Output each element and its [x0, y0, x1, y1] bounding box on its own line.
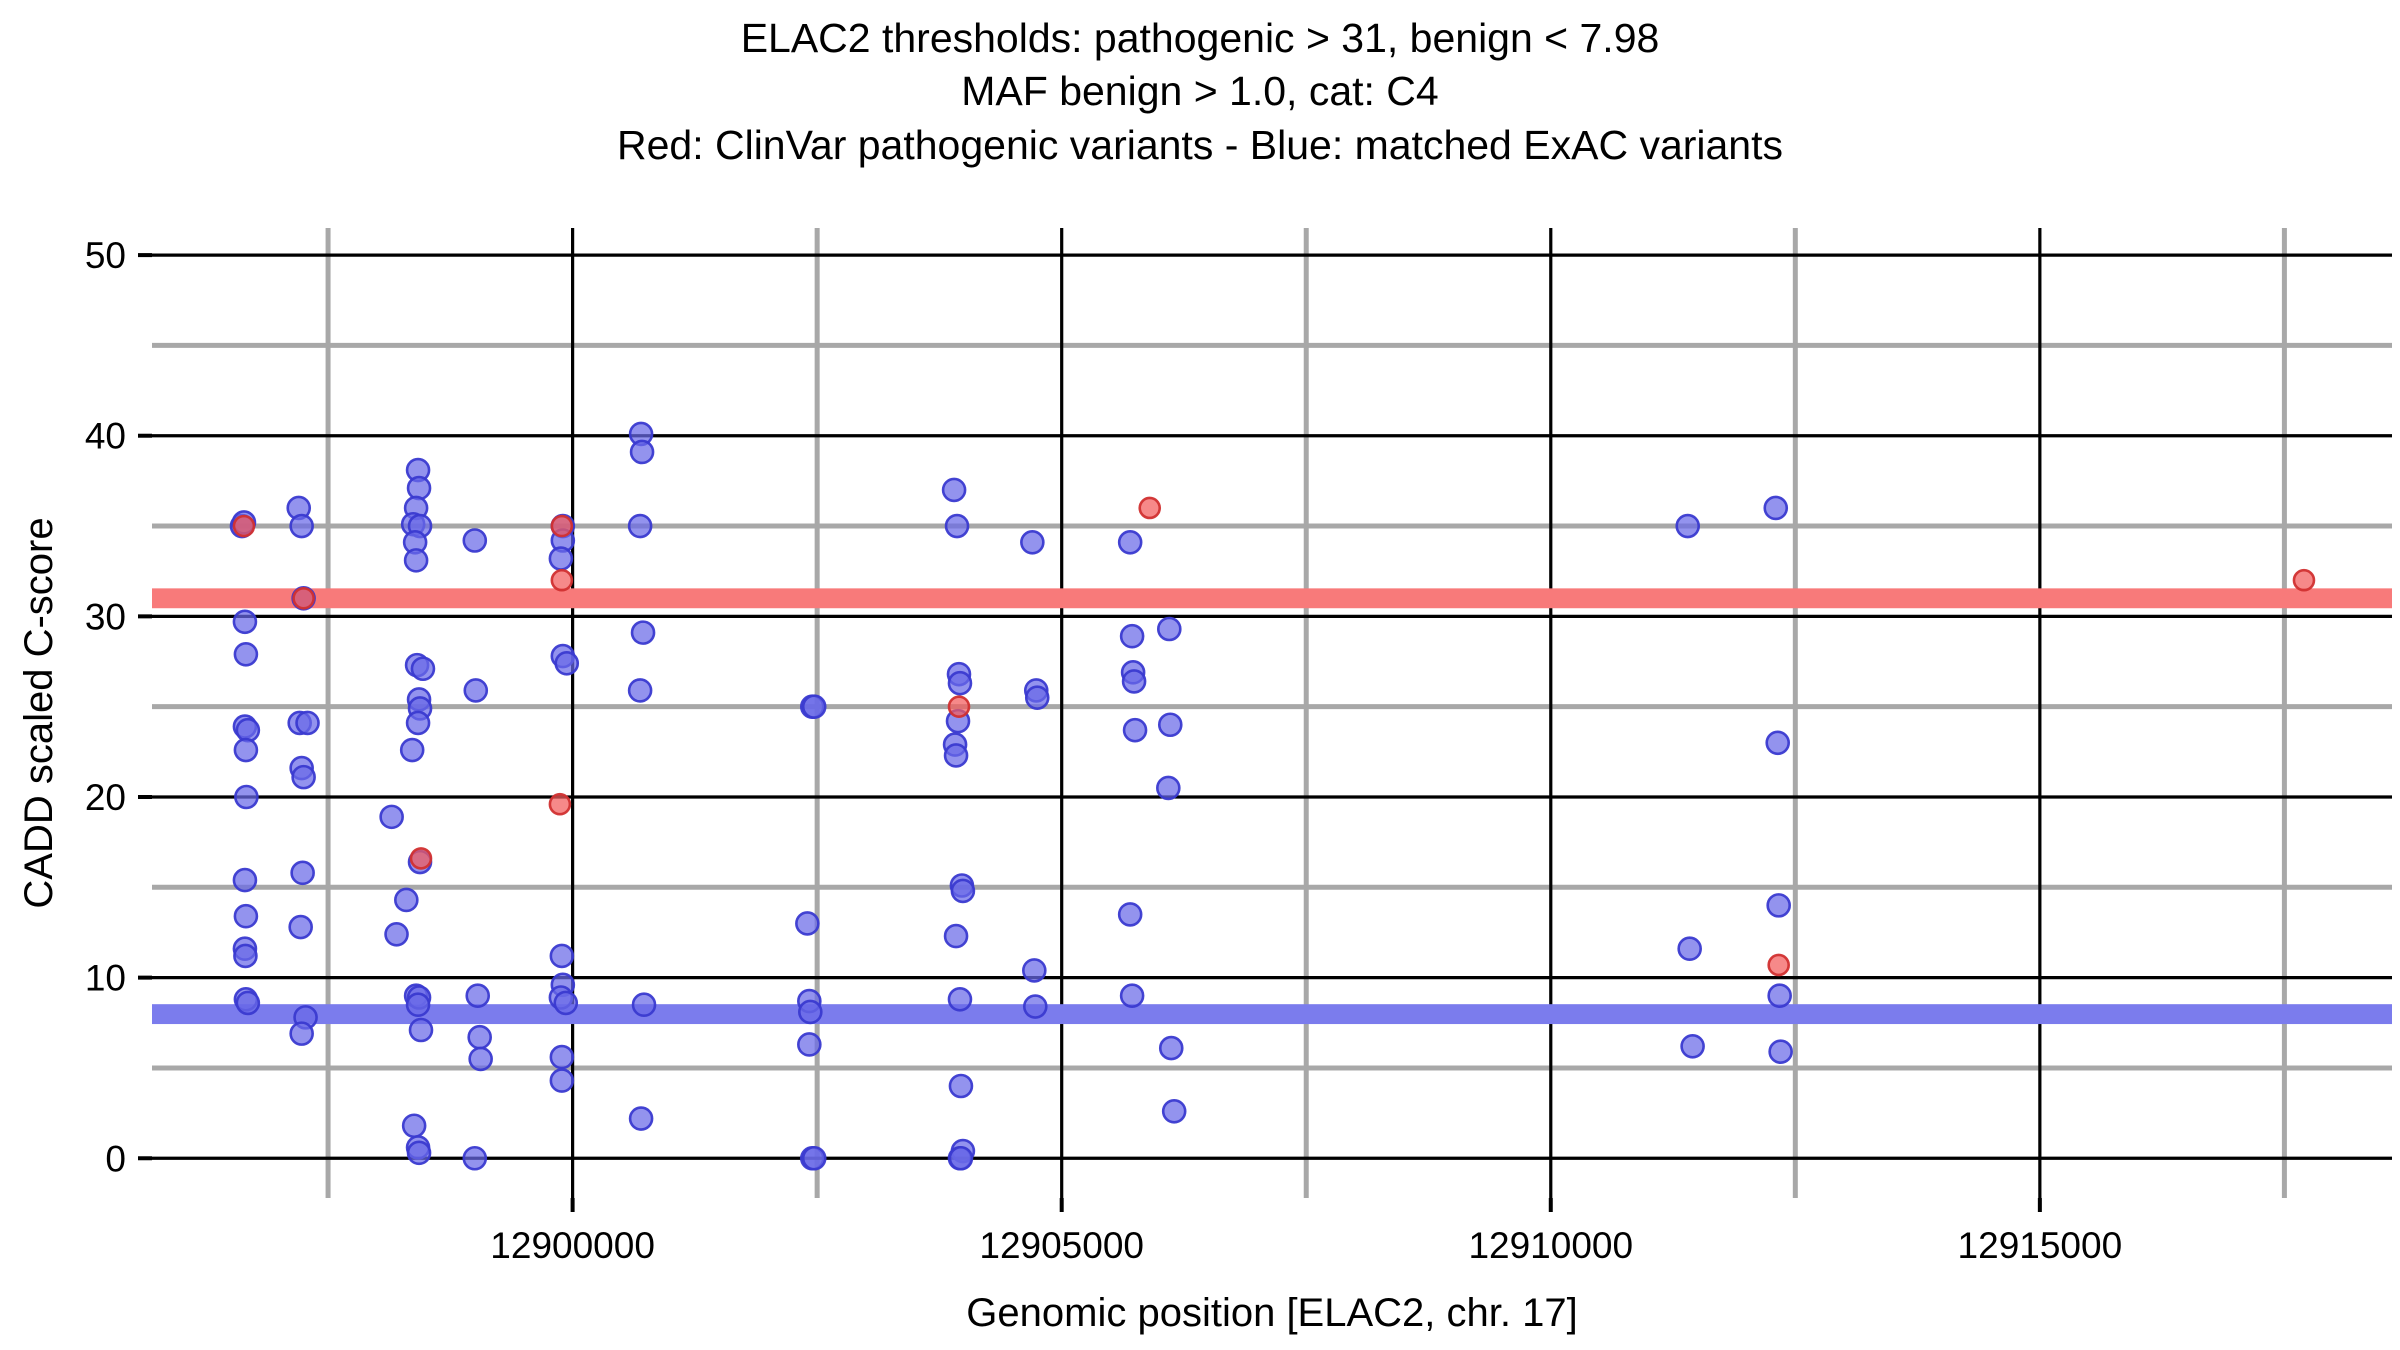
data-point[interactable]	[235, 905, 257, 927]
data-point[interactable]	[1123, 670, 1145, 692]
data-point[interactable]	[629, 679, 651, 701]
data-point[interactable]	[1119, 531, 1141, 553]
data-point[interactable]	[1767, 732, 1789, 754]
data-point[interactable]	[2294, 570, 2314, 590]
data-point[interactable]	[1157, 777, 1179, 799]
data-point[interactable]	[1023, 959, 1045, 981]
data-point[interactable]	[950, 1075, 972, 1097]
data-point[interactable]	[945, 744, 967, 766]
data-point[interactable]	[1026, 687, 1048, 709]
data-point[interactable]	[1768, 894, 1790, 916]
data-point[interactable]	[293, 766, 315, 788]
data-point[interactable]	[405, 549, 427, 571]
chart-figure: ELAC2 thresholds: pathogenic > 31, benig…	[0, 0, 2400, 1350]
data-point[interactable]	[945, 925, 967, 947]
data-point[interactable]	[551, 1046, 573, 1068]
data-point[interactable]	[411, 848, 431, 868]
data-point[interactable]	[1021, 531, 1043, 553]
data-point[interactable]	[946, 515, 968, 537]
data-point[interactable]	[290, 916, 312, 938]
data-point[interactable]	[803, 1147, 825, 1169]
data-point[interactable]	[297, 712, 319, 734]
data-point[interactable]	[551, 945, 573, 967]
data-point[interactable]	[552, 570, 572, 590]
data-point[interactable]	[949, 697, 969, 717]
y-axis-ticks: 01020304050	[85, 235, 152, 1179]
data-point[interactable]	[235, 643, 257, 665]
data-point[interactable]	[1765, 497, 1787, 519]
data-point[interactable]	[1770, 1041, 1792, 1063]
data-point[interactable]	[555, 992, 577, 1014]
data-point[interactable]	[294, 588, 314, 608]
data-point[interactable]	[469, 1026, 491, 1048]
data-point[interactable]	[1160, 1037, 1182, 1059]
data-point[interactable]	[630, 1108, 652, 1130]
y-tick-label: 0	[105, 1138, 126, 1179]
data-point[interactable]	[796, 912, 818, 934]
y-tick-label: 10	[85, 958, 126, 999]
y-tick-label: 30	[85, 596, 126, 637]
scatter-plot: 01020304050 1290000012905000129100001291…	[0, 0, 2400, 1350]
data-point[interactable]	[950, 1147, 972, 1169]
data-point[interactable]	[556, 652, 578, 674]
y-tick-label: 20	[85, 777, 126, 818]
data-point[interactable]	[632, 622, 654, 644]
data-point[interactable]	[949, 672, 971, 694]
data-point[interactable]	[292, 862, 314, 884]
y-minor-gridlines	[152, 345, 2392, 1068]
x-tick-label: 12905000	[979, 1225, 1144, 1266]
data-point[interactable]	[464, 529, 486, 551]
y-axis-title: CADD scaled C-score	[17, 517, 61, 908]
data-point[interactable]	[401, 739, 423, 761]
data-point[interactable]	[803, 696, 825, 718]
data-point[interactable]	[1159, 714, 1181, 736]
data-point[interactable]	[952, 880, 974, 902]
data-point[interactable]	[1121, 985, 1143, 1007]
x-tick-label: 12900000	[490, 1225, 655, 1266]
data-point[interactable]	[1682, 1035, 1704, 1057]
y-tick-label: 40	[85, 416, 126, 457]
data-point[interactable]	[235, 786, 257, 808]
data-point[interactable]	[237, 992, 259, 1014]
data-point[interactable]	[234, 869, 256, 891]
data-point[interactable]	[1769, 955, 1789, 975]
x-axis-title: Genomic position [ELAC2, chr. 17]	[966, 1291, 1577, 1335]
x-minor-gridlines	[328, 228, 2284, 1198]
threshold-bands	[152, 588, 2392, 1024]
data-point[interactable]	[408, 1142, 430, 1164]
y-tick-label: 50	[85, 235, 126, 276]
benign-threshold	[152, 1004, 2392, 1024]
data-point[interactable]	[1163, 1100, 1185, 1122]
data-point[interactable]	[799, 1001, 821, 1023]
data-point[interactable]	[237, 719, 259, 741]
data-point[interactable]	[234, 611, 256, 633]
data-point[interactable]	[1024, 996, 1046, 1018]
data-point[interactable]	[1769, 985, 1791, 1007]
data-point[interactable]	[550, 794, 570, 814]
data-point[interactable]	[291, 1023, 313, 1045]
x-tick-label: 12910000	[1468, 1225, 1633, 1266]
data-point[interactable]	[395, 889, 417, 911]
data-point[interactable]	[412, 658, 434, 680]
data-point[interactable]	[552, 516, 572, 536]
data-point[interactable]	[943, 479, 965, 501]
data-point[interactable]	[470, 1048, 492, 1070]
data-point[interactable]	[550, 548, 572, 570]
data-point[interactable]	[407, 994, 429, 1016]
x-axis-ticks: 12900000129050001291000012915000	[490, 1198, 2122, 1266]
pathogenic-threshold	[152, 588, 2392, 608]
data-point[interactable]	[291, 515, 313, 537]
clinvar-pathogenic-points[interactable]	[234, 498, 2314, 975]
data-point[interactable]	[1158, 618, 1180, 640]
x-tick-label: 12915000	[1958, 1225, 2123, 1266]
data-point[interactable]	[408, 477, 430, 499]
data-point[interactable]	[235, 739, 257, 761]
data-point[interactable]	[386, 923, 408, 945]
data-point[interactable]	[465, 679, 487, 701]
data-point[interactable]	[234, 945, 256, 967]
data-point[interactable]	[1124, 719, 1146, 741]
data-point[interactable]	[403, 1115, 425, 1137]
data-point[interactable]	[1679, 938, 1701, 960]
data-point[interactable]	[798, 1033, 820, 1055]
data-point[interactable]	[629, 515, 651, 537]
data-point[interactable]	[1119, 903, 1141, 925]
data-point[interactable]	[381, 806, 403, 828]
data-point[interactable]	[1677, 515, 1699, 537]
data-point[interactable]	[234, 516, 254, 536]
data-point[interactable]	[633, 994, 655, 1016]
data-point[interactable]	[631, 441, 653, 463]
data-point[interactable]	[410, 1019, 432, 1041]
data-point[interactable]	[1140, 498, 1160, 518]
data-point[interactable]	[464, 1147, 486, 1169]
data-point[interactable]	[467, 985, 489, 1007]
data-point[interactable]	[551, 1070, 573, 1092]
data-point[interactable]	[1121, 625, 1143, 647]
data-point[interactable]	[407, 712, 429, 734]
data-point[interactable]	[949, 988, 971, 1010]
